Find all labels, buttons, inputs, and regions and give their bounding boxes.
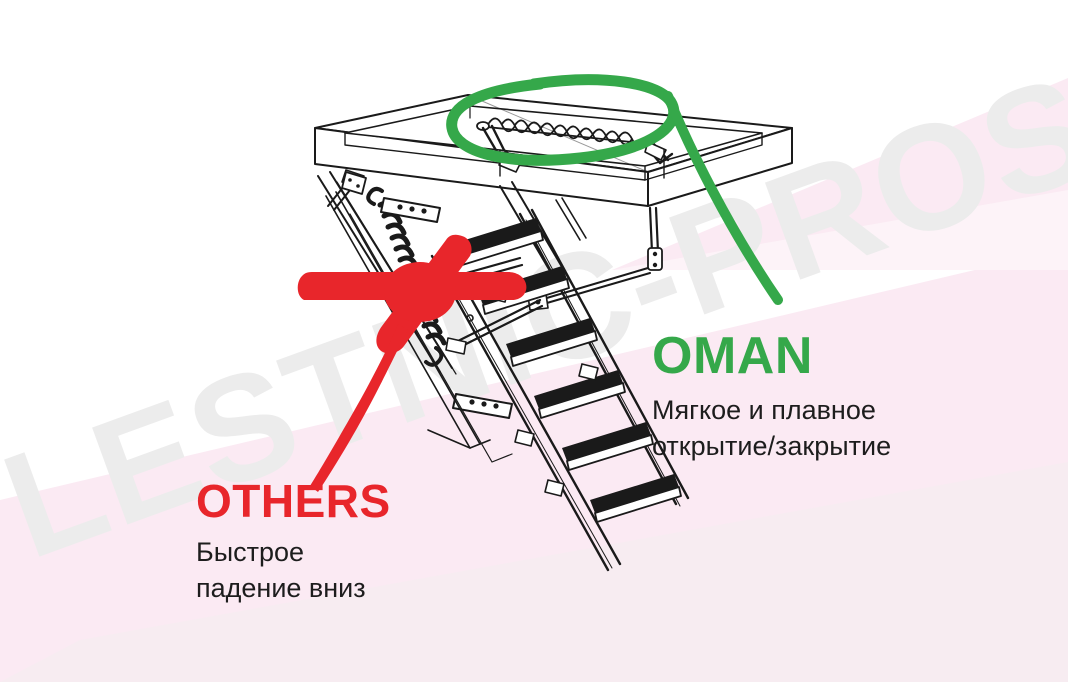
red-annotation — [0, 0, 1068, 682]
others-kicker: OTHERS — [196, 478, 391, 524]
red-arrow-joint — [384, 262, 456, 322]
others-description-line1: Быстрое — [196, 534, 391, 570]
promo-comparison-image: LESTNIC-PROSTO.RU — [0, 0, 1068, 682]
others-description-line2: падение вниз — [196, 570, 391, 606]
oman-description-line2: открытие/закрытие — [652, 428, 891, 464]
oman-description-line1: Мягкое и плавное — [652, 392, 891, 428]
callout-oman: OMAN Мягкое и плавное открытие/закрытие — [652, 330, 891, 464]
oman-kicker: OMAN — [652, 330, 891, 382]
red-arrow-tail — [310, 324, 408, 492]
callout-others: OTHERS Быстрое падение вниз — [196, 478, 391, 606]
